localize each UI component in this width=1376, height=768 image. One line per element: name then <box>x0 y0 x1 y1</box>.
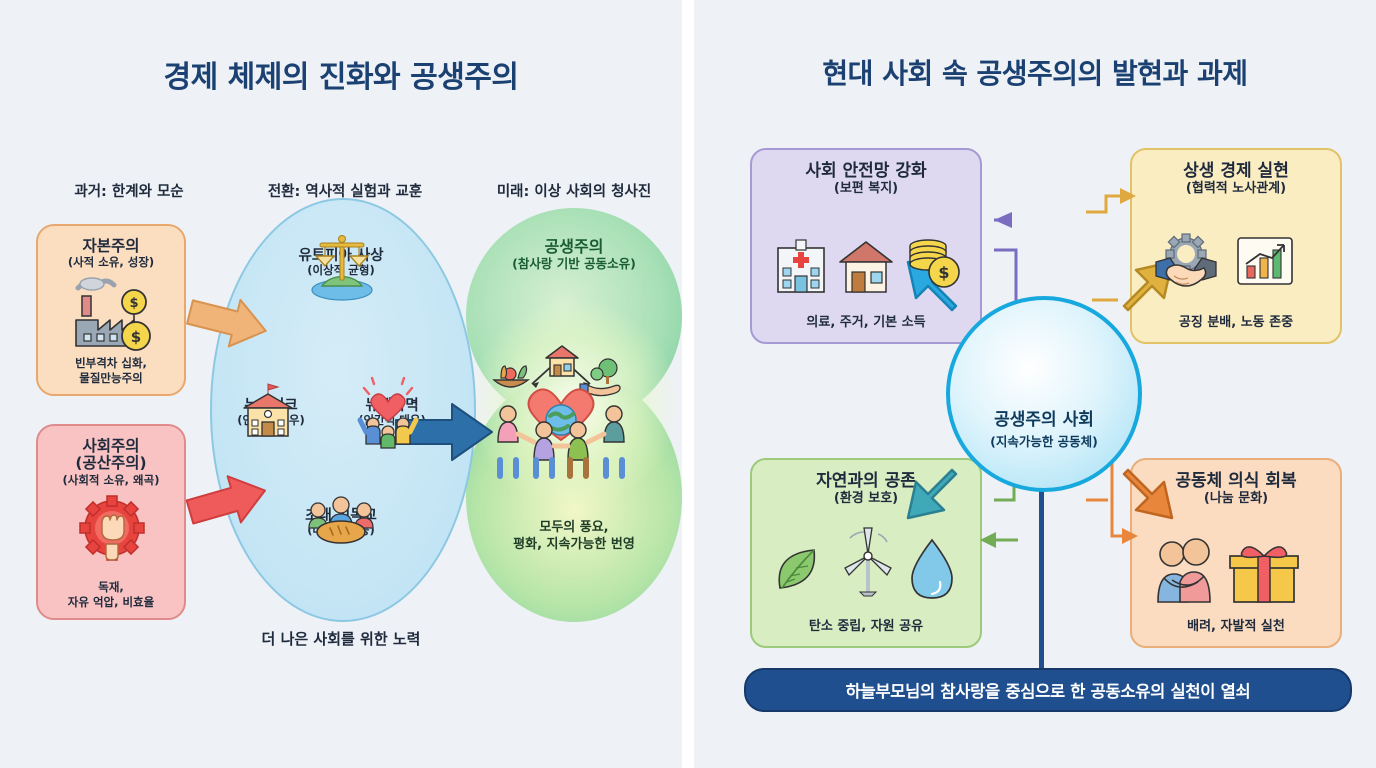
welfare-title: 사회 안전망 강화 <box>805 162 926 181</box>
new-lanark-subtitle: (인간적 대우) <box>212 414 330 427</box>
new-harmony-title: 뉴레가멱 <box>330 398 454 414</box>
socialism-footer-line2: 자유 억압, 비효율 <box>68 595 154 609</box>
quadrant-community: 공동체 의식 회복 (나눔 문화) 배려, 자발적 실천 <box>1130 458 1342 648</box>
column-header-past: 과거: 한계와 모순 <box>34 180 224 201</box>
community-title: 공동체 의식 회복 <box>1175 472 1296 491</box>
future-glow <box>470 300 678 508</box>
transition-item-utopia: 유토피아 사상 (이상적 균형) <box>238 248 444 277</box>
socialism-title2: (공산주의) <box>75 455 146 472</box>
future-footer: 모두의 풍요, 평화, 지속가능한 번영 <box>466 520 682 554</box>
hub-subtitle: (지속가능한 공동체) <box>990 431 1098 450</box>
capitalism-footer-line1: 빈부격차 십화, <box>75 356 147 370</box>
nature-footer: 탄소 중립, 자원 공유 <box>809 615 923 634</box>
left-panel-title: 경제 체제의 진화와 공생주의 <box>0 52 682 96</box>
key-message-banner: 하늘부모님의 참사랑을 중심으로 한 공동소유의 실천이 열쇠 <box>744 668 1352 712</box>
panel-divider <box>682 0 694 768</box>
economy-footer: 공징 분배, 노동 존중 <box>1179 311 1293 330</box>
capitalism-footer-line2: 물질만능주의 <box>75 371 147 385</box>
future-footer-line1: 모두의 풍요, <box>466 520 682 537</box>
new-harmony-subtitle: (인간적 대우) <box>330 414 454 427</box>
early-church-subtitle: (나눔과 평등) <box>238 524 444 537</box>
transition-item-early-church: 초대 기독교 (나눔과 평등) <box>238 508 444 537</box>
community-subtitle: (나눔 문화) <box>1204 492 1268 507</box>
utopia-subtitle: (이상적 균형) <box>238 264 444 277</box>
quadrant-welfare: 사회 안전망 강화 (보편 복지) 의료, 주거, 기본 소득 <box>750 148 982 344</box>
future-title-block: 공생주의 (참사랑 기반 공동소유) <box>466 238 682 272</box>
card-socialism: 사회주의 (공산주의) (사회적 소유, 왜곡) 독재, 자유 억압, 비효율 <box>36 424 186 620</box>
utopia-title: 유토피아 사상 <box>238 248 444 264</box>
new-lanark-title: 뉴레너크 <box>212 398 330 414</box>
socialism-subtitle: (사회적 소유, 왜곡) <box>63 474 160 488</box>
hub-title: 공생주의 사회 <box>994 405 1094 430</box>
socialism-title: 사회주의 <box>82 438 139 455</box>
transition-item-new-lanark: 뉴레너크 (인간적 대우) <box>212 398 330 427</box>
right-panel-title: 현대 사회 속 공생주의의 발현과 과제 <box>694 52 1376 92</box>
welfare-footer: 의료, 주거, 기본 소득 <box>806 311 925 330</box>
nature-subtitle: (환경 보호) <box>834 492 898 507</box>
community-footer: 배려, 자발적 실천 <box>1187 615 1285 634</box>
socialism-footer: 독재, 자유 억압, 비효율 <box>68 580 154 609</box>
center-hub: 공생주의 사회 (지속가능한 공동체) <box>946 296 1142 492</box>
column-header-future: 미래: 이상 사회의 청사진 <box>468 180 680 201</box>
right-panel: 현대 사회 속 공생주의의 발현과 과제 <box>694 0 1376 768</box>
transition-item-new-harmony: 뉴레가멱 (인간적 대우) <box>330 398 454 427</box>
capitalism-subtitle: (사적 소유, 성장) <box>68 256 154 270</box>
transition-caption: 더 나은 사회를 위한 노력 <box>210 628 472 649</box>
economy-subtitle: (협력적 노사관계) <box>1186 182 1286 197</box>
left-panel: 경제 체제의 진화와 공생주의 과거: 한계와 모순 전환: 역사적 실험과 교… <box>0 0 682 768</box>
socialism-footer-line1: 독재, <box>68 580 154 594</box>
future-footer-line2: 평화, 지속가능한 번영 <box>466 537 682 554</box>
banner-connector-stem <box>1039 480 1044 670</box>
capitalism-title: 자본주의 <box>82 238 139 255</box>
early-church-title: 초대 기독교 <box>238 508 444 524</box>
quadrant-nature: 자연과의 공존 (환경 보호) 탄소 중립, 자원 공유 <box>750 458 982 648</box>
future-title: 공생주의 <box>466 238 682 257</box>
card-capitalism: 자본주의 (사적 소유, 성장) 빈부격차 십화, 물질만능주의 <box>36 224 186 396</box>
capitalism-footer: 빈부격차 십화, 물질만능주의 <box>75 356 147 385</box>
economy-title: 상생 경제 실현 <box>1183 162 1289 181</box>
welfare-subtitle: (보편 복지) <box>834 182 898 197</box>
nature-title: 자연과의 공존 <box>816 472 916 491</box>
quadrant-economy: 상생 경제 실현 (협력적 노사관계) 공징 분배, 노동 존중 <box>1130 148 1342 344</box>
infographic-canvas: 경제 체제의 진화와 공생주의 과거: 한계와 모순 전환: 역사적 실험과 교… <box>0 0 1376 768</box>
future-subtitle: (참사랑 기반 공동소유) <box>466 257 682 272</box>
